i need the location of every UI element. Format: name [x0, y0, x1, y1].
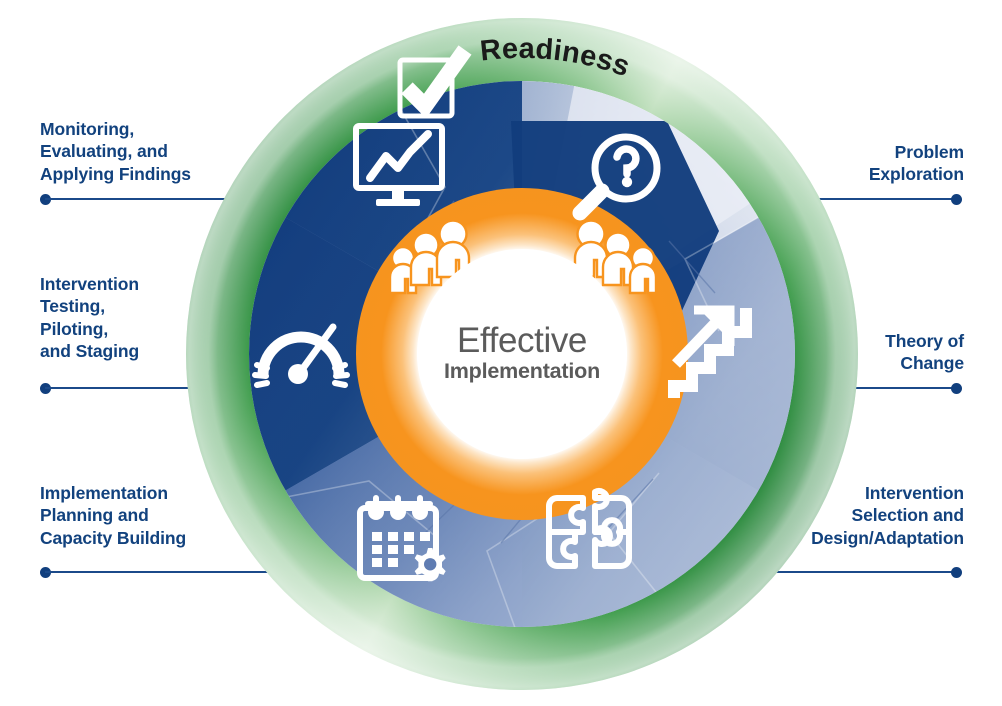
puzzle-icon [539, 488, 639, 588]
label-implementation-planning: Implementation Planning and Capacity Bui… [40, 482, 186, 549]
checkbox-check-icon [393, 44, 479, 124]
label-theory-of-change: Theory of Change [885, 330, 964, 375]
monitor-chart-icon [352, 122, 446, 208]
label-monitoring-evaluating: Monitoring, Evaluating, and Applying Fin… [40, 118, 191, 185]
implementation-framework-diagram: Teaming Effective Implementation Readine… [0, 0, 1002, 706]
center-core: Effective Implementation [417, 249, 627, 459]
center-title-line1: Effective [457, 323, 587, 358]
label-intervention-selection: Intervention Selection and Design/Adapta… [811, 482, 964, 549]
center-title-line2: Implementation [444, 358, 600, 385]
magnifier-question-icon [568, 130, 668, 230]
label-intervention-testing: Intervention Testing, Piloting, and Stag… [40, 273, 139, 363]
label-problem-exploration: Problem Exploration [869, 141, 964, 186]
leader-dot-right-2 [951, 383, 962, 394]
leader-dot-right-1 [951, 194, 962, 205]
calendar-gear-icon [352, 492, 456, 588]
leader-dot-right-3 [951, 567, 962, 578]
stairs-arrow-icon [664, 302, 756, 402]
gauge-icon [249, 313, 353, 399]
